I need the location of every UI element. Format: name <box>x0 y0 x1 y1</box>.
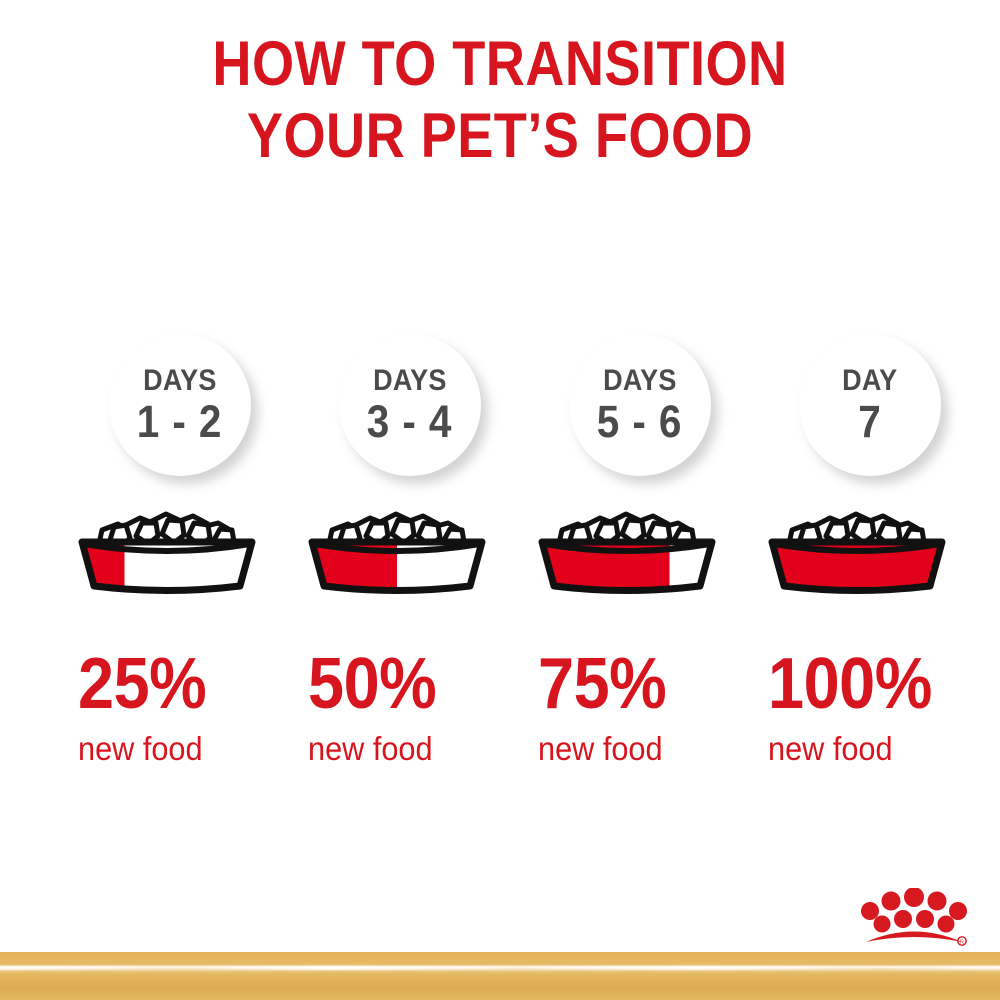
day-badge-number-4: 7 <box>858 398 881 445</box>
transition-step-2: DAYS 3 - 4 <box>292 0 522 1000</box>
day-badge-1: DAYS 1 - 2 <box>109 334 251 476</box>
gold-band-highlight-streak <box>0 966 1000 970</box>
day-badge-number-1: 1 - 2 <box>137 398 223 445</box>
transition-step-1: DAYS 1 - 2 <box>62 0 292 1000</box>
day-badge-number-3: 5 - 6 <box>597 398 683 445</box>
percent-value-2: 50% <box>308 648 506 720</box>
percent-caption-4: new food <box>768 730 973 768</box>
percent-block-2: 50% new food <box>308 648 528 768</box>
transition-step-4: DAY 7 <box>752 0 982 1000</box>
percent-value-1: 25% <box>78 648 276 720</box>
day-badge-number-2: 3 - 4 <box>367 398 453 445</box>
food-bowl-2 <box>292 496 502 596</box>
percent-block-1: 25% new food <box>78 648 298 768</box>
registered-mark-r: R <box>960 939 964 945</box>
day-badge-4: DAY 7 <box>799 334 941 476</box>
royal-canin-crown-logo: R <box>858 888 970 950</box>
food-bowl-4 <box>752 496 962 596</box>
percent-block-4: 100% new food <box>768 648 988 768</box>
percent-caption-3: new food <box>538 730 743 768</box>
percent-block-3: 75% new food <box>538 648 758 768</box>
day-badge-3: DAYS 5 - 6 <box>569 334 711 476</box>
percent-caption-2: new food <box>308 730 513 768</box>
percent-value-4: 100% <box>768 648 966 720</box>
day-badge-word-3: DAYS <box>603 365 677 396</box>
crown-arc <box>866 932 962 943</box>
day-badge-word-4: DAY <box>842 365 897 396</box>
day-badge-word-1: DAYS <box>143 365 217 396</box>
percent-caption-1: new food <box>78 730 283 768</box>
transition-step-3: DAYS 5 - 6 <box>522 0 752 1000</box>
day-badge-word-2: DAYS <box>373 365 447 396</box>
food-bowl-1 <box>62 496 272 596</box>
transition-steps: DAYS 1 - 2 <box>0 0 1000 1000</box>
percent-value-3: 75% <box>538 648 736 720</box>
crown-dots <box>861 888 967 933</box>
day-badge-2: DAYS 3 - 4 <box>339 334 481 476</box>
bottom-gold-band <box>0 952 1000 1000</box>
food-bowl-3 <box>522 496 732 596</box>
